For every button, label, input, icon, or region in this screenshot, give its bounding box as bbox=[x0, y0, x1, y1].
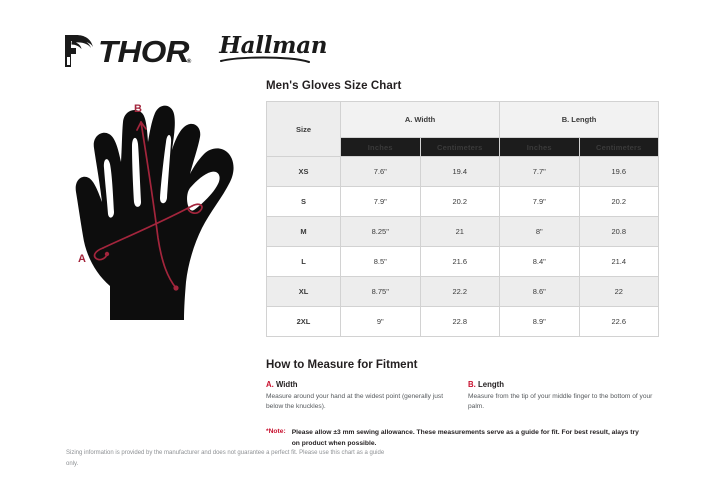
column-header-width-inches: Inches bbox=[341, 138, 421, 157]
measure-length-description: Measure from the tip of your middle fing… bbox=[468, 392, 658, 412]
label-b: B bbox=[134, 103, 142, 115]
table-row: 2XL 9" 22.8 8.9" 22.6 bbox=[267, 307, 659, 337]
measure-length-name: Length bbox=[476, 380, 504, 389]
cell-width-inches: 7.6" bbox=[341, 157, 421, 187]
cell-length-inches: 8.6" bbox=[500, 277, 580, 307]
note-text: Please allow ±3 mm sewing allowance. The… bbox=[292, 428, 644, 449]
cell-width-centimeters: 22.8 bbox=[420, 307, 500, 337]
cell-length-centimeters: 22 bbox=[579, 277, 659, 307]
cell-size: L bbox=[267, 247, 341, 277]
cell-width-inches: 9" bbox=[341, 307, 421, 337]
footer-disclaimer: Sizing information is provided by the ma… bbox=[66, 448, 396, 469]
how-to-measure-title: How to Measure for Fitment bbox=[266, 359, 658, 371]
measure-length-block: B. Length Measure from the tip of your m… bbox=[468, 380, 658, 412]
column-group-length: B. Length bbox=[500, 102, 659, 138]
cell-length-inches: 8.9" bbox=[500, 307, 580, 337]
cell-length-inches: 7.7" bbox=[500, 157, 580, 187]
cell-size: 2XL bbox=[267, 307, 341, 337]
cell-length-centimeters: 20.2 bbox=[579, 187, 659, 217]
cell-length-inches: 8" bbox=[500, 217, 580, 247]
table-header-groups: Size A. Width B. Length bbox=[267, 102, 659, 138]
cell-width-inches: 7.9" bbox=[341, 187, 421, 217]
measure-length-letter: B. bbox=[468, 380, 476, 389]
cell-length-centimeters: 22.6 bbox=[579, 307, 659, 337]
label-a: A bbox=[78, 253, 86, 265]
table-row: M 8.25" 21 8" 20.8 bbox=[267, 217, 659, 247]
how-to-measure-section: How to Measure for Fitment A. Width Meas… bbox=[266, 359, 658, 450]
brand-logo-row: THOR ® Hallman bbox=[62, 30, 327, 72]
table-row: L 8.5" 21.6 8.4" 21.4 bbox=[267, 247, 659, 277]
size-chart-table: Size A. Width B. Length Inches Centimete… bbox=[266, 101, 659, 337]
cell-size: XS bbox=[267, 157, 341, 187]
measure-width-description: Measure around your hand at the widest p… bbox=[266, 392, 456, 412]
measure-width-name: Width bbox=[274, 380, 298, 389]
column-group-width: A. Width bbox=[341, 102, 500, 138]
cell-size: XL bbox=[267, 277, 341, 307]
cell-width-centimeters: 21 bbox=[420, 217, 500, 247]
cell-width-centimeters: 20.2 bbox=[420, 187, 500, 217]
hallman-wordmark: Hallman bbox=[219, 32, 327, 59]
table-row: S 7.9" 20.2 7.9" 20.2 bbox=[267, 187, 659, 217]
cell-length-centimeters: 20.8 bbox=[579, 217, 659, 247]
sewing-allowance-note: *Note: Please allow ±3 mm sewing allowan… bbox=[266, 428, 658, 449]
cell-width-centimeters: 22.2 bbox=[420, 277, 500, 307]
column-header-size: Size bbox=[267, 102, 341, 157]
cell-size: S bbox=[267, 187, 341, 217]
column-header-length-centimeters: Centimeters bbox=[579, 138, 659, 157]
note-label: *Note: bbox=[266, 428, 286, 449]
cell-width-inches: 8.75" bbox=[341, 277, 421, 307]
cell-length-inches: 7.9" bbox=[500, 187, 580, 217]
column-header-length-inches: Inches bbox=[500, 138, 580, 157]
chart-content-column: Men's Gloves Size Chart Size A. Width B.… bbox=[266, 80, 658, 450]
hand-measurement-diagram: B A bbox=[64, 96, 260, 320]
thor-wordmark: THOR bbox=[98, 36, 189, 67]
hallman-logo: Hallman bbox=[219, 34, 327, 69]
measure-width-letter: A. bbox=[266, 380, 274, 389]
measure-width-block: A. Width Measure around your hand at the… bbox=[266, 380, 456, 412]
cell-length-inches: 8.4" bbox=[500, 247, 580, 277]
cell-width-centimeters: 21.6 bbox=[420, 247, 500, 277]
cell-width-inches: 8.25" bbox=[341, 217, 421, 247]
table-row: XL 8.75" 22.2 8.6" 22 bbox=[267, 277, 659, 307]
thor-logo: THOR ® bbox=[62, 33, 191, 69]
column-header-width-centimeters: Centimeters bbox=[420, 138, 500, 157]
table-row: XS 7.6" 19.4 7.7" 19.6 bbox=[267, 157, 659, 187]
cell-length-centimeters: 19.6 bbox=[579, 157, 659, 187]
width-line-end-dot bbox=[105, 252, 109, 256]
cell-size: M bbox=[267, 217, 341, 247]
length-line-end-dot bbox=[173, 285, 178, 290]
cell-width-centimeters: 19.4 bbox=[420, 157, 500, 187]
thor-helmet-mark bbox=[62, 33, 96, 69]
measure-width-heading: A. Width bbox=[266, 380, 456, 389]
cell-length-centimeters: 21.4 bbox=[579, 247, 659, 277]
page-title: Men's Gloves Size Chart bbox=[266, 80, 658, 92]
measure-length-heading: B. Length bbox=[468, 380, 658, 389]
cell-width-inches: 8.5" bbox=[341, 247, 421, 277]
